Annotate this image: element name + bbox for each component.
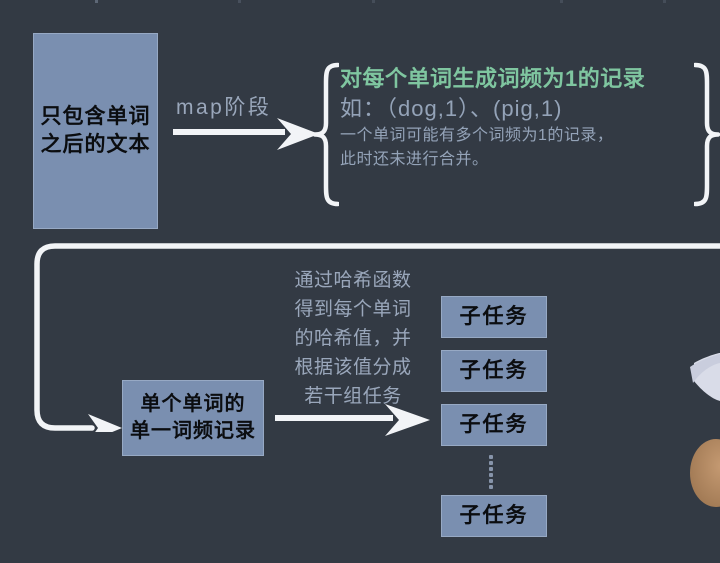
vertical-ellipsis-icon — [487, 455, 495, 489]
map-arrow-icon — [173, 117, 323, 151]
curly-brace-left-icon — [313, 62, 339, 207]
source-text-box[interactable]: 只包含单词 之后的文本 — [33, 33, 158, 229]
hash-note-line-4: 根据该值分成 — [277, 354, 429, 383]
sub-task-box-1[interactable]: 子任务 — [441, 296, 547, 338]
sub-task-label-2: 子任务 — [460, 357, 529, 385]
slide-canvas: 只包含单词 之后的文本 map阶段 对每个单词生成词频为1的记录 如：（dog,… — [0, 0, 720, 563]
hash-note-line-3: 的哈希值，并 — [277, 325, 429, 354]
hash-arrow-icon — [275, 403, 435, 437]
hash-note-line-2: 得到每个单词 — [277, 296, 429, 325]
sub-task-box-2[interactable]: 子任务 — [441, 350, 547, 392]
map-output-note-line-2: 此时还未进行合并。 — [340, 148, 712, 171]
map-output-note-line-1: 一个单词可能有多个词频为1的记录， — [340, 124, 712, 147]
source-text-line-1: 只包含单词 — [41, 103, 151, 131]
single-word-record-line-2: 单一词频记录 — [130, 418, 256, 445]
single-word-record-box[interactable]: 单个单词的 单一词频记录 — [122, 380, 264, 456]
map-output-example: 如：（dog,1）、(pig,1) — [340, 94, 712, 125]
sub-task-label-1: 子任务 — [460, 303, 529, 331]
single-word-record-line-1: 单个单词的 — [141, 391, 246, 418]
map-output-headline: 对每个单词生成词频为1的记录 — [340, 64, 712, 94]
sub-task-box-3[interactable]: 子任务 — [441, 404, 547, 446]
presenter-figure-icon — [660, 353, 720, 563]
sub-task-box-4[interactable]: 子任务 — [441, 495, 547, 537]
hash-function-note: 通过哈希函数 得到每个单词 的哈希值，并 根据该值分成 若干组任务 — [277, 267, 429, 411]
map-output-callout: 对每个单词生成词频为1的记录 如：（dog,1）、(pig,1) 一个单词可能有… — [313, 62, 720, 207]
hash-note-line-1: 通过哈希函数 — [277, 267, 429, 296]
sub-task-label-3: 子任务 — [460, 411, 529, 439]
sub-task-label-4: 子任务 — [460, 502, 529, 530]
map-output-text-block: 对每个单词生成词频为1的记录 如：（dog,1）、(pig,1) 一个单词可能有… — [340, 64, 712, 171]
top-cutoff-sliver — [0, 0, 720, 5]
source-text-line-2: 之后的文本 — [41, 131, 151, 159]
